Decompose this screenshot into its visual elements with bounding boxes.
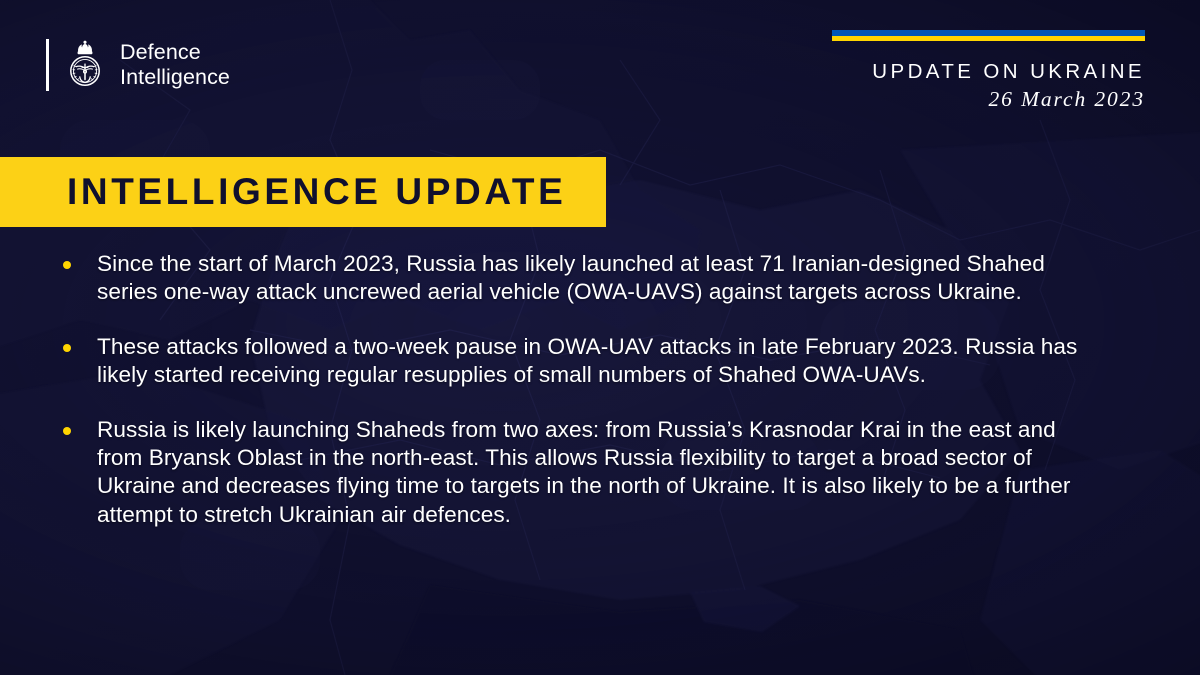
ukraine-flag-bar	[832, 30, 1145, 41]
brand-line-1: Defence	[120, 40, 230, 65]
bullet-text: Since the start of March 2023, Russia ha…	[97, 250, 1097, 307]
bullet-marker-icon	[63, 427, 71, 435]
bullet-list: Since the start of March 2023, Russia ha…	[63, 250, 1143, 529]
list-item: Russia is likely launching Shaheds from …	[63, 416, 1143, 530]
masthead: Defence Intelligence	[46, 38, 230, 92]
list-item: These attacks followed a two-week pause …	[63, 333, 1143, 390]
bullet-text: These attacks followed a two-week pause …	[97, 333, 1097, 390]
header-right: UPDATE ON UKRAINE 26 March 2023	[832, 30, 1145, 113]
uk-defence-intelligence-crest-icon	[62, 38, 108, 92]
masthead-divider	[46, 39, 49, 91]
list-item: Since the start of March 2023, Russia ha…	[63, 250, 1143, 307]
banner-label: INTELLIGENCE UPDATE	[67, 171, 566, 213]
header-title: UPDATE ON UKRAINE	[832, 59, 1145, 85]
brand-wordmark: Defence Intelligence	[120, 40, 230, 90]
flag-stripe-yellow	[832, 36, 1145, 42]
bullet-text: Russia is likely launching Shaheds from …	[97, 416, 1097, 530]
intelligence-update-banner: INTELLIGENCE UPDATE	[0, 157, 606, 227]
brand-line-2: Intelligence	[120, 65, 230, 90]
bullet-marker-icon	[63, 344, 71, 352]
header-date: 26 March 2023	[832, 85, 1145, 113]
bullet-marker-icon	[63, 261, 71, 269]
